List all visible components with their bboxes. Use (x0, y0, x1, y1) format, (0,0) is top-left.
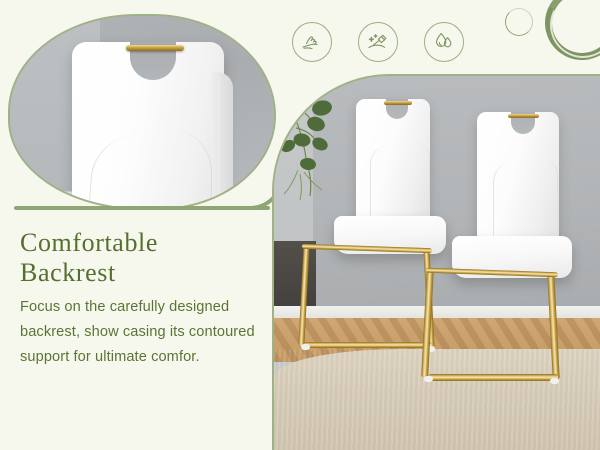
dining-chairs-room-photo (272, 74, 600, 450)
easy-clean-icon (365, 29, 391, 55)
eucalyptus-plant (276, 84, 362, 204)
page-title: Comfortable Backrest (20, 228, 268, 288)
chair-right-gold-handle (508, 114, 539, 118)
room-scene (274, 76, 600, 450)
chair-left-foot-front (301, 344, 310, 350)
chair-right-seam-b (540, 158, 558, 240)
headline-line-1: Comfortable (20, 228, 158, 257)
chair-right-base-rail (428, 374, 558, 381)
chair-right-foot-rear (550, 378, 559, 384)
feature-description: Focus on the carefully designed backrest… (20, 295, 272, 370)
easy-clean-badge (358, 22, 398, 62)
small-ring-decor (505, 8, 533, 36)
section-divider (14, 206, 270, 210)
chair-right-seam-a (493, 162, 513, 240)
water-resistant-badge (424, 22, 464, 62)
closeup-seam-edge (218, 76, 228, 210)
closeup-gold-handle (126, 45, 184, 51)
headline-line-2: Backrest (20, 258, 268, 288)
backrest-closeup-photo (8, 14, 276, 210)
chair-left-gold-handle (384, 101, 412, 105)
closeup-scene (10, 16, 274, 208)
chair-left-seam-b (414, 142, 430, 218)
soft-touch-icon (299, 29, 325, 55)
chair-right-foot-front (424, 376, 433, 382)
banner-canvas: Comfortable Backrest Focus on the carefu… (0, 0, 600, 450)
chair-left-seam-a (370, 146, 388, 218)
feature-badge-row (292, 22, 464, 62)
soft-touch-badge (292, 22, 332, 62)
water-droplets-icon (431, 29, 457, 55)
chair-left-base-rail (304, 342, 432, 348)
